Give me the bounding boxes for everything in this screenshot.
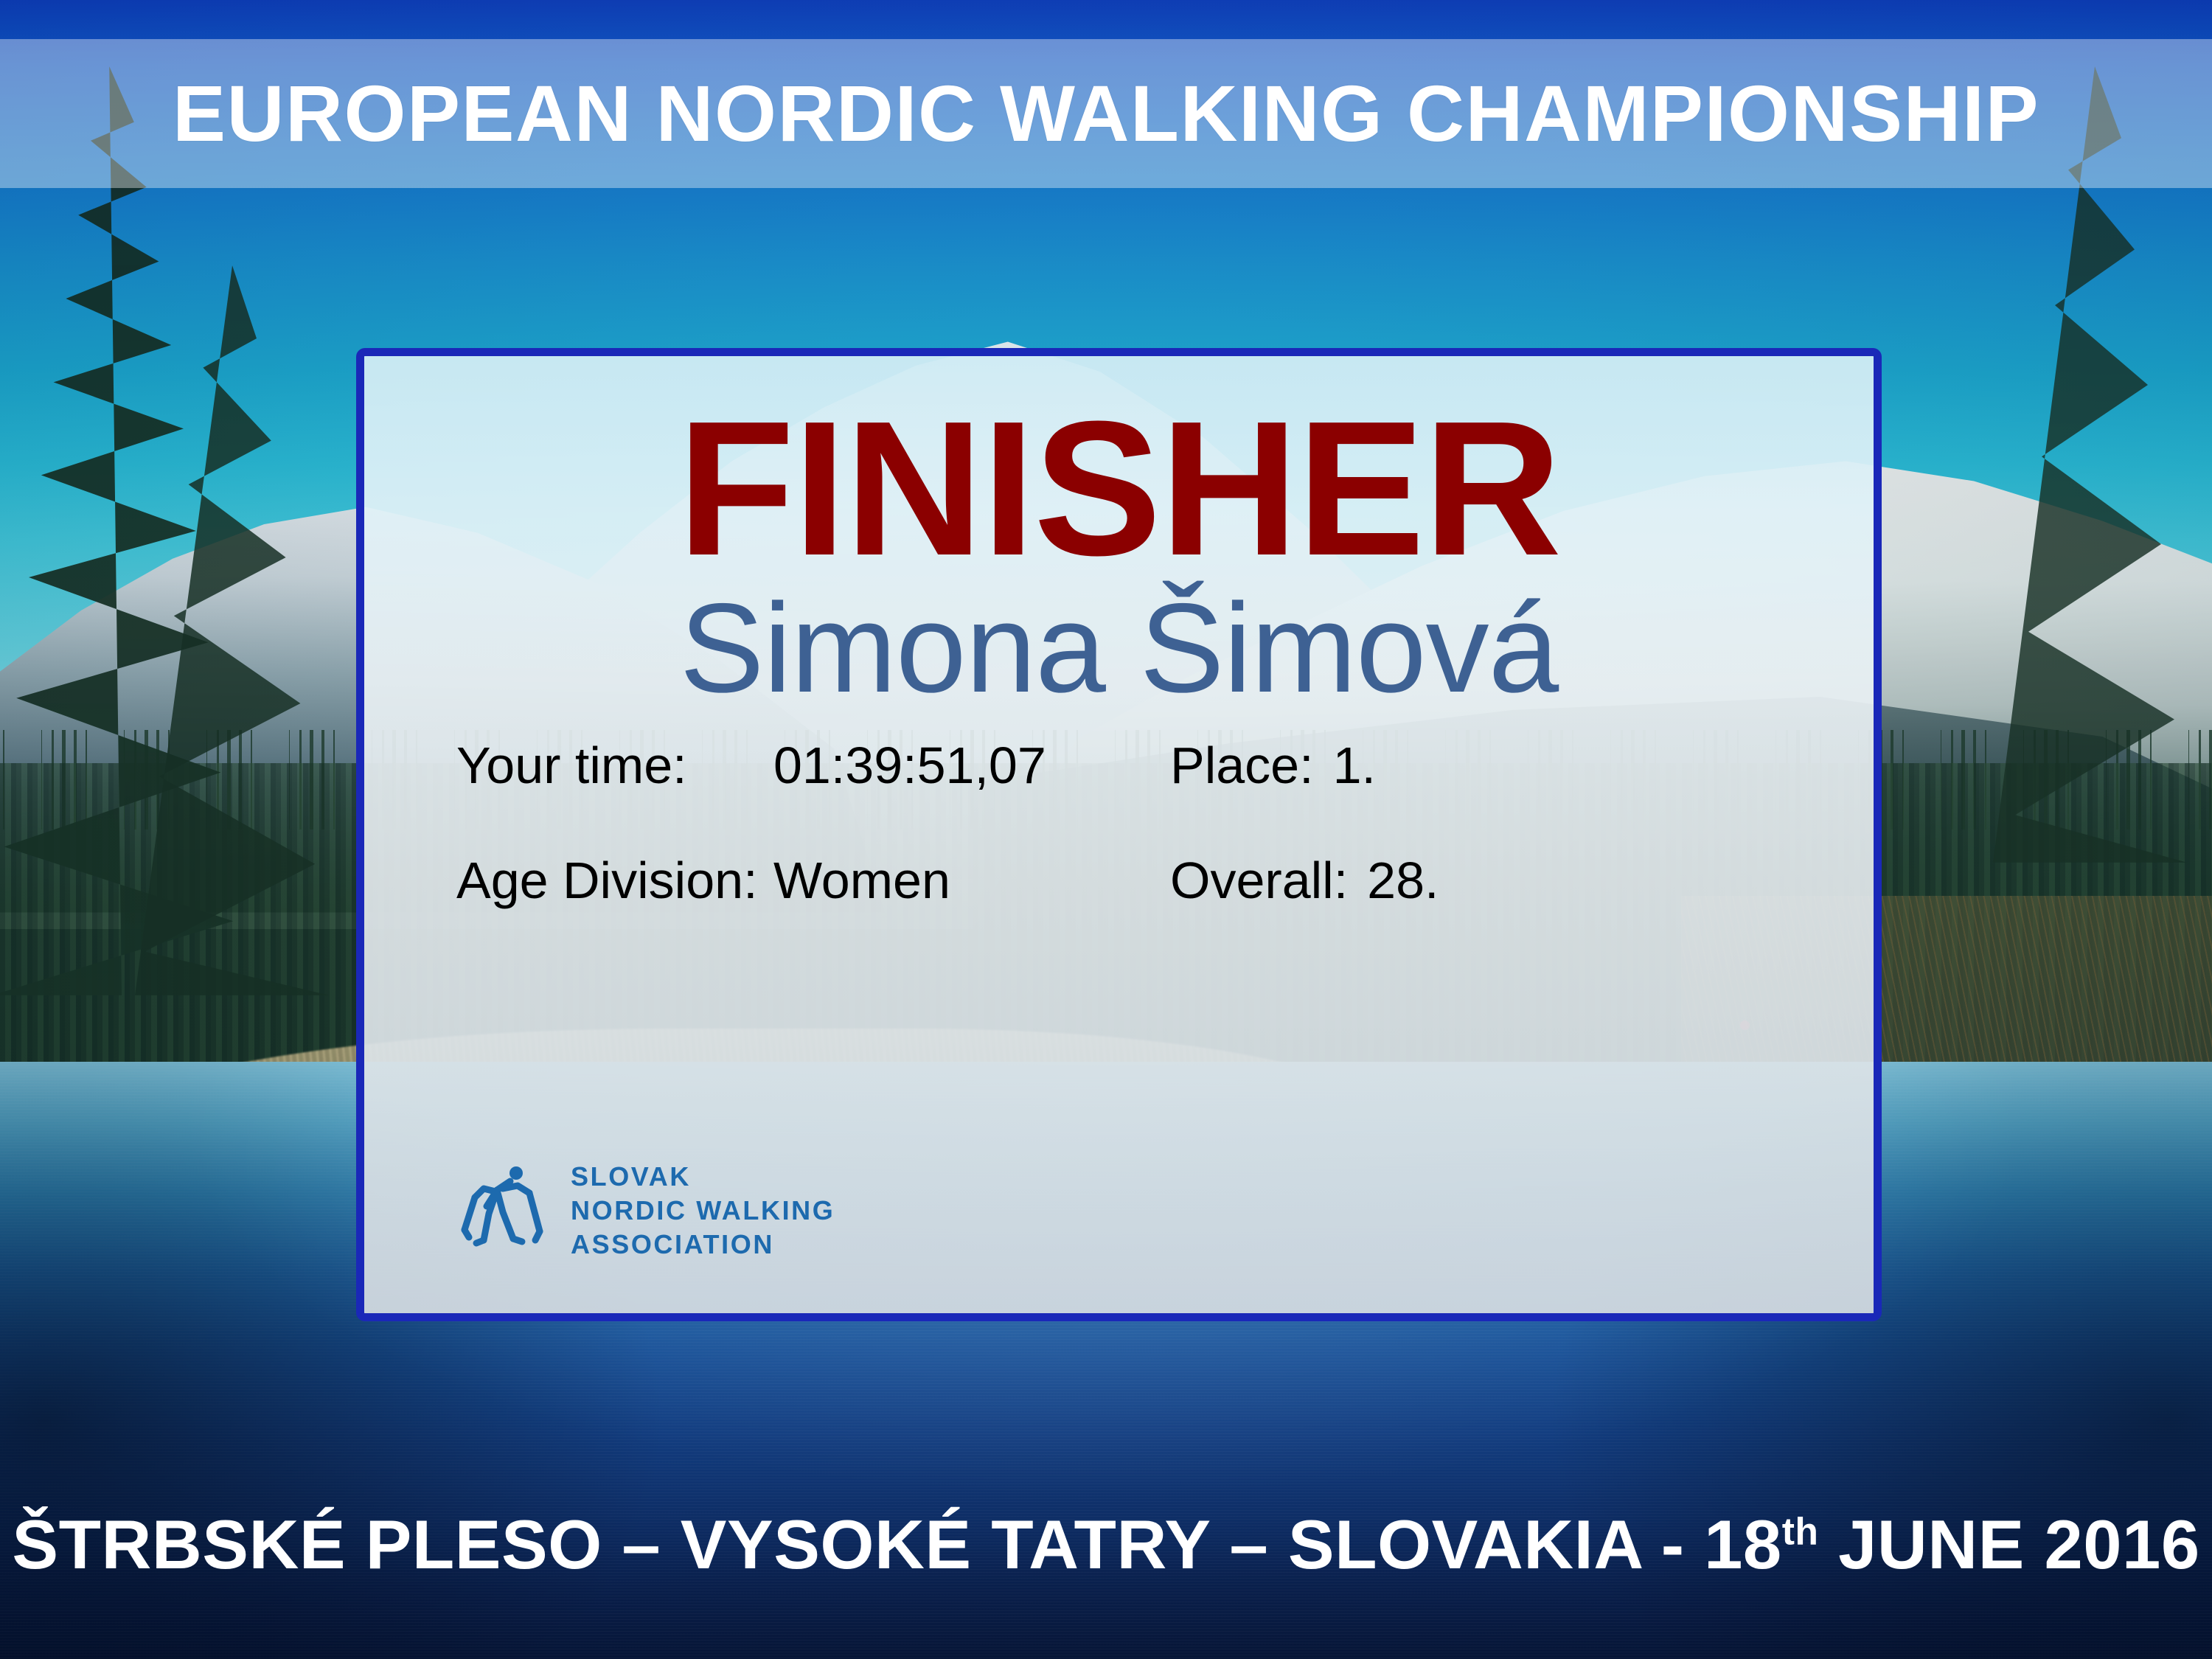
result-details: Your time: 01:39:51,07 Place: 1. Age Div… bbox=[456, 740, 1792, 970]
venue-date-text: ŠTRBSKÉ PLESO – VYSOKÉ TATRY – SLOVAKIA … bbox=[12, 1510, 2199, 1579]
association-logo: SLOVAK NORDIC WALKING ASSOCIATION bbox=[459, 1160, 835, 1262]
age-division-label: Age Division: bbox=[456, 855, 773, 906]
certificate-image: EUROPEAN NORDIC WALKING CHAMPIONSHIP FIN… bbox=[0, 0, 2212, 1659]
association-logo-text: SLOVAK NORDIC WALKING ASSOCIATION bbox=[571, 1160, 835, 1262]
event-title: EUROPEAN NORDIC WALKING CHAMPIONSHIP bbox=[173, 74, 2039, 153]
venue-text: ŠTRBSKÉ PLESO – VYSOKÉ TATRY – SLOVAKIA … bbox=[12, 1506, 1781, 1583]
logo-line-1: SLOVAK bbox=[571, 1160, 835, 1194]
logo-line-2: NORDIC WALKING bbox=[571, 1194, 835, 1228]
header-banner: EUROPEAN NORDIC WALKING CHAMPIONSHIP bbox=[0, 39, 2212, 188]
footer-banner: ŠTRBSKÉ PLESO – VYSOKÉ TATRY – SLOVAKIA … bbox=[0, 1460, 2212, 1659]
logo-line-3: ASSOCIATION bbox=[571, 1228, 835, 1262]
result-row: Age Division: Women Overall: 28. bbox=[456, 855, 1792, 906]
ordinal-suffix: th bbox=[1782, 1510, 1819, 1553]
finisher-headline: FINISHER bbox=[364, 393, 1874, 585]
date-text: JUNE 2016 bbox=[1819, 1506, 2200, 1583]
athlete-name: Simona Šimová bbox=[364, 585, 1874, 712]
age-division-value: Women bbox=[773, 855, 1157, 906]
place-label: Place: bbox=[1170, 740, 1314, 791]
certificate-panel: FINISHER Simona Šimová Your time: 01:39:… bbox=[356, 348, 1882, 1321]
nordic-walker-icon bbox=[459, 1166, 553, 1255]
certificate-content: FINISHER Simona Šimová Your time: 01:39:… bbox=[364, 356, 1874, 1313]
overall-label: Overall: bbox=[1170, 855, 1348, 906]
your-time-value: 01:39:51,07 bbox=[773, 740, 1157, 791]
your-time-label: Your time: bbox=[456, 740, 773, 791]
result-row: Your time: 01:39:51,07 Place: 1. bbox=[456, 740, 1792, 791]
overall-value: 28. bbox=[1367, 855, 1439, 906]
place-value: 1. bbox=[1333, 740, 1376, 791]
